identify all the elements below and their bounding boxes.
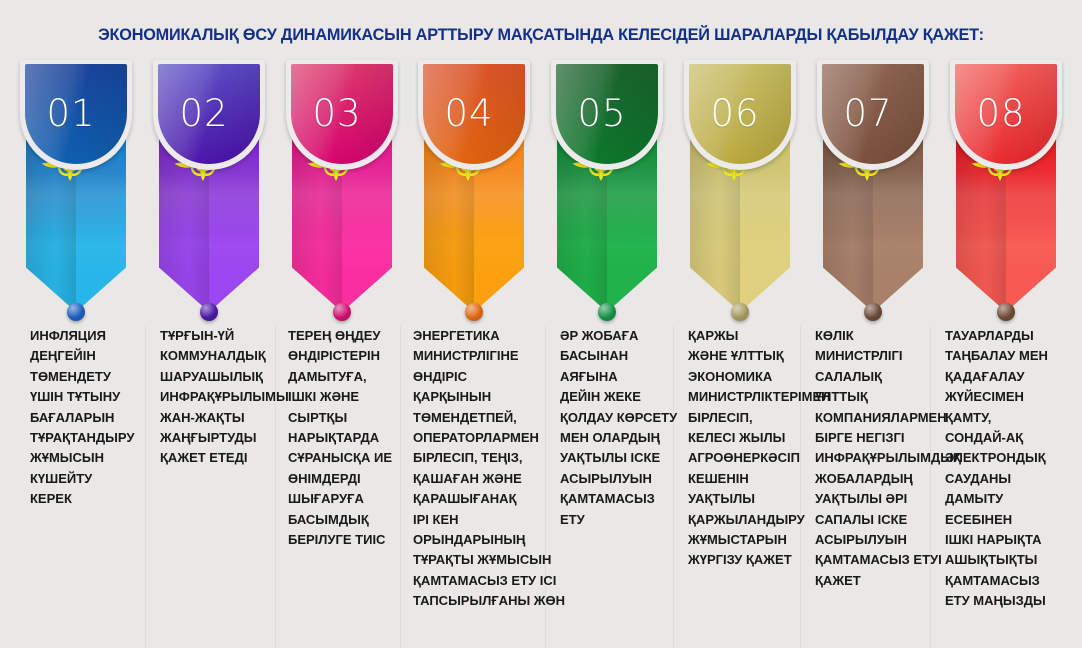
text-column-07: КӨЛІКМИНИСТРЛІГІСАЛАЛЫҚҰЛТТЫҚКОМПАНИЯЛАР… [815,326,943,591]
text-line: БЕРІЛУГЕ ТИІС [288,530,406,550]
text-line: КЕРЕК [30,489,140,509]
text-line: КЕШЕНІН [688,469,808,489]
text-line: ҚАМТУ, [945,408,1070,428]
dot-gloss [864,303,882,321]
text-line: ОРЫНДАРЫНЫҢ [413,530,553,550]
banner-number: 05 [551,60,653,160]
text-line: САЛАЛЫҚ [815,367,943,387]
banner-number: 08 [950,60,1052,160]
dot-gloss [997,303,1015,321]
text-line: СЫРТҚЫ [288,408,406,428]
text-line: СҰРАНЫСҚА ИЕ [288,448,406,468]
shield-badge[interactable]: 06 [684,60,796,170]
text-line: ҚАШАҒАН ЖӘНЕ [413,469,553,489]
banner-number: 07 [817,60,919,160]
banner-dot [864,303,882,321]
shield-badge[interactable]: 02 [153,60,265,170]
text-column-03: ТЕРЕҢ ӨҢДЕУӨНДІРІСТЕРІНДАМЫТУҒА,ІШКІ ЖӘН… [288,326,406,550]
text-column-06: ҚАРЖЫЖӘНЕ ҰЛТТЫҚЭКОНОМИКАМИНИСТРЛІКТЕРІМ… [688,326,808,571]
text-line: САПАЛЫ ІСКЕ [815,510,943,530]
dot-gloss [598,303,616,321]
dot-gloss [200,303,218,321]
text-line: ЭНЕРГЕТИКА [413,326,553,346]
text-line: ЖҰМЫСТАРЫН [688,530,808,550]
text-line: ҚАДАҒАЛАУ [945,367,1070,387]
text-line: ҚАМТАМАСЫЗ [560,489,680,509]
text-line: ТӨМЕНДЕТУ [30,367,140,387]
text-column-01: ИНФЛЯЦИЯДЕҢГЕЙІНТӨМЕНДЕТУҮШІН ТҰТЫНУБАҒА… [30,326,140,510]
infographic-root: ЭКОНОМИКАЛЫҚ ӨСУ ДИНАМИКАСЫН АРТТЫРУ МАҚ… [0,0,1082,648]
text-line: ШАРУАШЫЛЫҚ [160,367,282,387]
banner-number: 03 [286,60,388,160]
text-line: ІРІ КЕН [413,510,553,530]
text-line: ЭКОНОМИКА [688,367,808,387]
text-line: БІРЛЕСІП, [688,408,808,428]
banner-dot [997,303,1015,321]
text-line: МИНИСТРЛІГІНЕ [413,346,553,366]
dot-gloss [731,303,749,321]
text-line: ДЕҢГЕЙІН [30,346,140,366]
text-line: ҚАРЖЫ [688,326,808,346]
text-line: ИНФРАҚҰРЫЛЫМДЫҚ [815,448,943,468]
dot-gloss [333,303,351,321]
text-line: БІРЛЕСІП, ТЕҢІЗ, [413,448,553,468]
banner-number: 04 [418,60,520,160]
text-line: ҚАМТАМАСЫЗ [945,571,1070,591]
shield-badge[interactable]: 08 [950,60,1062,170]
text-line: САУДАНЫ [945,469,1070,489]
text-line: ЖАҢҒЫРТУДЫ [160,428,282,448]
text-line: ИНФРАҚҰРЫЛЫМЫ [160,387,282,407]
banner-dot [333,303,351,321]
text-column-row: ИНФЛЯЦИЯДЕҢГЕЙІНТӨМЕНДЕТУҮШІН ТҰТЫНУБАҒА… [0,326,1082,648]
text-line: ҚАРҚЫНЫН [413,387,553,407]
text-line: ӘР ЖОБАҒА [560,326,680,346]
text-line: ҚОЛДАУ КӨРСЕТУ [560,408,680,428]
text-line: ІШКІ НАРЫҚТА [945,530,1070,550]
text-line: ТҰРҒЫН-ҮЙ [160,326,282,346]
text-line: АЯҒЫНА [560,367,680,387]
text-line: ҚАЖЕТ [815,571,943,591]
text-line: ӨНДІРІСТЕРІН [288,346,406,366]
dot-gloss [67,303,85,321]
text-line: ЖҮРГІЗУ ҚАЖЕТ [688,550,808,570]
text-line: КЕЛЕСІ ЖЫЛЫ [688,428,808,448]
text-line: ҰЛТТЫҚ [815,387,943,407]
text-column-08: ТАУАРЛАРДЫТАҢБАЛАУ МЕНҚАДАҒАЛАУЖҮЙЕСІМЕН… [945,326,1070,612]
text-line: АШЫҚТЫҚТЫ [945,550,1070,570]
text-line: АГРОӨНЕРКӘСІП [688,448,808,468]
banner-08[interactable]: 08 [950,60,1062,312]
banner-number: 02 [153,60,255,160]
banner-02[interactable]: 02 [153,60,265,312]
text-line: ӨНІМДЕРДІ [288,469,406,489]
text-line: ҚАРАШЫҒАНАҚ [413,489,553,509]
banner-dot [465,303,483,321]
text-line: ЖҮЙЕСІМЕН [945,387,1070,407]
banner-05[interactable]: 05 [551,60,663,312]
banner-number: 06 [684,60,786,160]
text-line: ТАУАРЛАРДЫ [945,326,1070,346]
text-line: УАҚТЫЛЫ ӘРІ [815,489,943,509]
text-line: ТҰРАҚТАНДЫРУ [30,428,140,448]
text-line: ТАҢБАЛАУ МЕН [945,346,1070,366]
text-line: ЕТУ МАҢЫЗДЫ [945,591,1070,611]
text-line: УАҚТЫЛЫ [688,489,808,509]
text-line: ДЕЙІН ЖЕКЕ [560,387,680,407]
dot-gloss [465,303,483,321]
text-line: ТҰРАҚТЫ ЖҰМЫСЫН [413,550,553,570]
text-line: ТАПСЫРЫЛҒАНЫ ЖӨН [413,591,553,611]
banner-07[interactable]: 07 [817,60,929,312]
text-line: КӨЛІК [815,326,943,346]
text-line: МЕН ОЛАРДЫҢ [560,428,680,448]
text-line: ӨНДІРІС [413,367,553,387]
text-line: ЕСЕБІНЕН [945,510,1070,530]
text-line: ТЕРЕҢ ӨҢДЕУ [288,326,406,346]
shield-badge[interactable]: 04 [418,60,530,170]
banner-04[interactable]: 04 [418,60,530,312]
text-line: ЖОБАЛАРДЫҢ [815,469,943,489]
text-line: МИНИСТРЛІКТЕРІМЕН [688,387,808,407]
text-line: ОПЕРАТОРЛАРМЕН [413,428,553,448]
text-line: БАСЫМДЫҚ [288,510,406,530]
text-line: ҮШІН ТҰТЫНУ [30,387,140,407]
shield-badge[interactable]: 03 [286,60,398,170]
text-line: БІРГЕ НЕГІЗГІ [815,428,943,448]
text-line: ТӨМЕНДЕТПЕЙ, [413,408,553,428]
text-line: ЖАН-ЖАҚТЫ [160,408,282,428]
text-line: ЖҰМЫСЫН [30,448,140,468]
text-line: ШЫҒАРУҒА [288,489,406,509]
text-line: АСЫРЫЛУЫН [560,469,680,489]
text-line: ЭЛЕКТРОНДЫҚ [945,448,1070,468]
text-line: ҚАРЖЫЛАНДЫРУ [688,510,808,530]
banner-dot [67,303,85,321]
text-line: КҮШЕЙТУ [30,469,140,489]
banner-number: 01 [20,60,122,160]
text-line: НАРЫҚТАРДА [288,428,406,448]
banner-01[interactable]: 01 [20,60,132,312]
text-line: КОММУНАЛДЫҚ [160,346,282,366]
banner-dot [200,303,218,321]
text-line: СОНДАЙ-АҚ [945,428,1070,448]
banner-dot [598,303,616,321]
text-line: ҚАМТАМАСЫЗ ЕТУІ [815,550,943,570]
text-line: БАСЫНАН [560,346,680,366]
text-line: ЖӘНЕ ҰЛТТЫҚ [688,346,808,366]
text-line: ДАМЫТУҒА, [288,367,406,387]
text-line: ҚАЖЕТ ЕТЕДІ [160,448,282,468]
text-line: ҚАМТАМАСЫЗ ЕТУ ІСІ [413,571,553,591]
shield-badge[interactable]: 01 [20,60,132,170]
text-column-04: ЭНЕРГЕТИКАМИНИСТРЛІГІНЕӨНДІРІСҚАРҚЫНЫНТӨ… [413,326,553,612]
text-line: УАҚТЫЛЫ ІСКЕ [560,448,680,468]
text-line: БАҒАЛАРЫН [30,408,140,428]
banner-row: 01 [0,0,1082,320]
banner-03[interactable]: 03 [286,60,398,312]
text-line: МИНИСТРЛІГІ [815,346,943,366]
text-line: ИНФЛЯЦИЯ [30,326,140,346]
text-line: АСЫРЫЛУЫН [815,530,943,550]
text-column-05: ӘР ЖОБАҒАБАСЫНАНАЯҒЫНАДЕЙІН ЖЕКЕҚОЛДАУ К… [560,326,680,530]
shield-badge[interactable]: 07 [817,60,929,170]
banner-dot [731,303,749,321]
text-line: ДАМЫТУ [945,489,1070,509]
shield-badge[interactable]: 05 [551,60,663,170]
text-line: ЕТУ [560,510,680,530]
column-divider [145,326,146,648]
text-line: ІШКІ ЖӘНЕ [288,387,406,407]
banner-06[interactable]: 06 [684,60,796,312]
text-line: КОМПАНИЯЛАРМЕН [815,408,943,428]
text-column-02: ТҰРҒЫН-ҮЙКОММУНАЛДЫҚШАРУАШЫЛЫҚИНФРАҚҰРЫЛ… [160,326,282,469]
